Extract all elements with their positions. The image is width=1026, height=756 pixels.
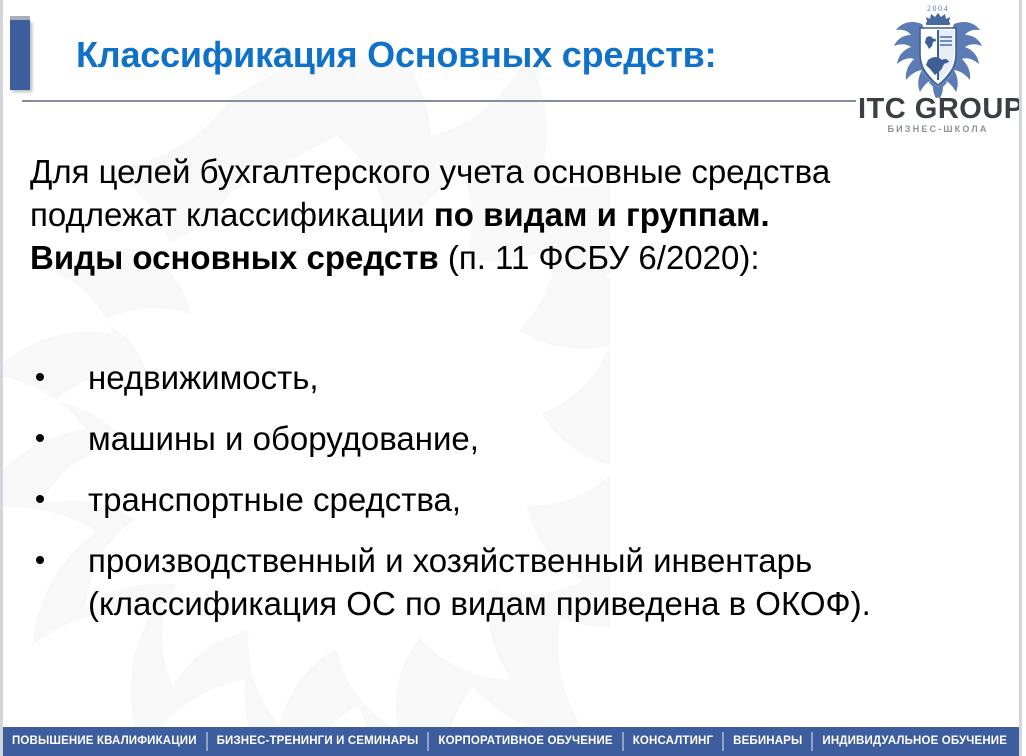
body-paragraph-2: Виды основных средств (п. 11 ФСБУ 6/2020… — [30, 236, 950, 279]
presentation-slide: Классификация Основных средств: 2004 — [0, 0, 1026, 756]
footer-item-biznes-treningi[interactable]: БИЗНЕС-ТРЕНИНГИ И СЕМИНАРЫ — [208, 727, 428, 756]
slide-left-border — [0, 0, 3, 756]
logo-wordmark: ITC GROUP — [858, 94, 1018, 124]
bullet-dot-icon — [36, 434, 44, 442]
heraldic-crest-icon: 2004 — [882, 2, 994, 98]
bullet-dot-icon — [36, 373, 44, 381]
bullet-dot-icon — [36, 495, 44, 503]
logo-tagline: БИЗНЕС-ШКОЛА — [858, 124, 1018, 134]
footer-item-korporativnoe-obuchenie[interactable]: КОРПОРАТИВНОЕ ОБУЧЕНИЕ — [429, 727, 621, 756]
paragraph-1-bold: по видам и группам. — [434, 196, 770, 233]
list-item: производственный и хозяйственный инвента… — [30, 539, 995, 625]
bullet-dot-icon — [36, 556, 44, 564]
footer-item-povyshenie-kvalifikacii[interactable]: ПОВЫШЕНИЕ КВАЛИФИКАЦИИ — [3, 727, 206, 756]
list-item-label: транспортные средства, — [88, 478, 993, 521]
title-accent-bar — [10, 20, 30, 90]
svg-text:2004: 2004 — [927, 4, 949, 13]
footer-item-konsalting[interactable]: КОНСАЛТИНГ — [624, 727, 722, 756]
list-item: транспортные средства, — [30, 478, 995, 521]
bullet-list: недвижимость, машины и оборудование, тра… — [30, 356, 995, 625]
list-item-label: машины и оборудование, — [88, 417, 993, 460]
list-item-label: производственный и хозяйственный инвента… — [88, 539, 993, 625]
list-item-label: недвижимость, — [88, 356, 993, 399]
slide-body-text: Для целей бухгалтерского учета основные … — [30, 150, 990, 279]
paragraph-2-bold: Виды основных средств — [30, 239, 439, 276]
footer-item-vebinary[interactable]: ВЕБИНАРЫ — [724, 727, 811, 756]
slide-title: Классификация Основных средств: — [76, 33, 856, 77]
itc-group-logo: 2004 — [858, 2, 1018, 132]
body-paragraph-1: Для целей бухгалтерского учета основные … — [30, 150, 950, 236]
list-item: машины и оборудование, — [30, 417, 995, 460]
title-divider-rule — [22, 100, 856, 102]
list-item: недвижимость, — [30, 356, 995, 399]
footer-item-individualnoe-obuchenie[interactable]: ИНДИВИДУАЛЬНОЕ ОБУЧЕНИЕ — [813, 727, 1016, 756]
footer-nav-bar: ПОВЫШЕНИЕ КВАЛИФИКАЦИИ БИЗНЕС-ТРЕНИНГИ И… — [3, 727, 1019, 756]
paragraph-2-text: (п. 11 ФСБУ 6/2020): — [439, 239, 760, 276]
slide-right-margin — [1022, 0, 1026, 756]
